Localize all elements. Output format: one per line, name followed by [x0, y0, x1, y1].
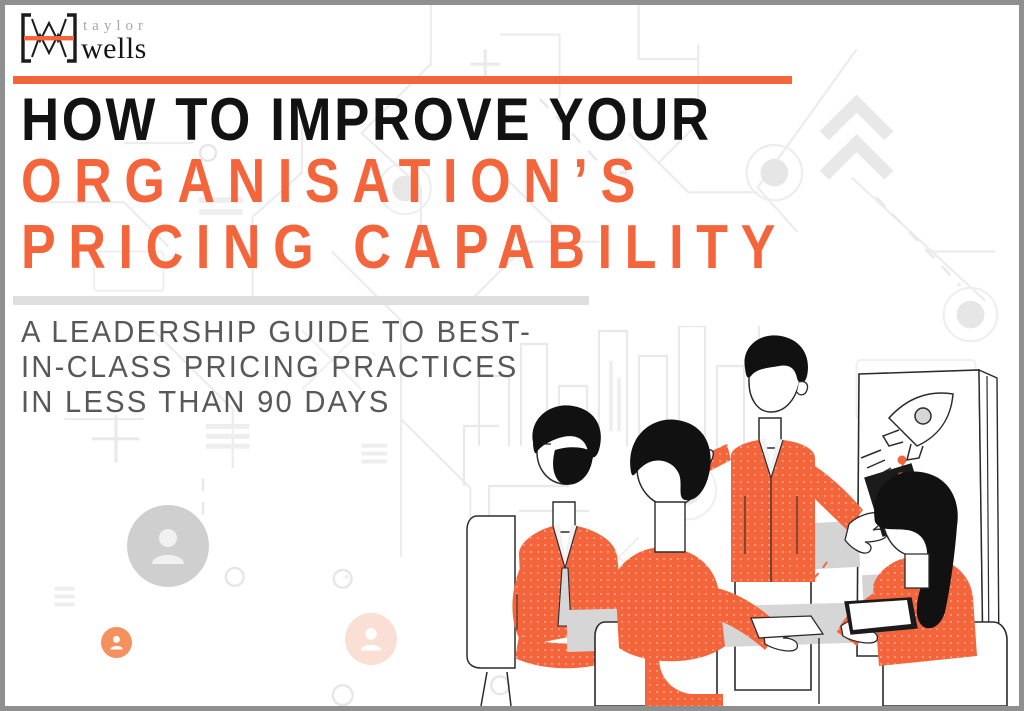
wm-monogram-icon	[19, 11, 79, 65]
taylor-wells-logo[interactable]: taylor wells	[19, 11, 148, 65]
headline-line-2: ORGANISATION’S	[21, 149, 788, 215]
user-icon	[357, 625, 385, 653]
subtitle-block: A LEADERSHIP GUIDE TO BEST- IN-CLASS PRI…	[21, 314, 565, 419]
headline-line-1: HOW TO IMPROVE YOUR	[21, 91, 824, 149]
subtitle-line-3: IN LESS THAN 90 DAYS	[21, 384, 532, 419]
orange-divider-rule	[13, 76, 792, 84]
avatar-large-grey	[127, 505, 209, 587]
headline-line-3: PRICING CAPABILITY	[21, 215, 788, 281]
headline-block: HOW TO IMPROVE YOUR ORGANISATION’S PRICI…	[21, 91, 934, 281]
logo-mark-wm	[19, 11, 79, 65]
avatar-small-orange	[101, 627, 132, 658]
grey-divider-rule	[13, 296, 589, 305]
user-icon	[146, 524, 190, 568]
skyline-bars	[609, 361, 621, 431]
logo-wordmark: taylor wells	[81, 18, 148, 65]
subtitle-line-2: IN-CLASS PRICING PRACTICES	[21, 349, 532, 384]
cover-page: taylor wells HOW TO IMPROVE YOUR ORGANIS…	[0, 0, 1024, 711]
avatar-medium-peach	[345, 613, 397, 665]
logo-word-wells: wells	[81, 34, 148, 64]
user-icon	[108, 634, 125, 651]
subtitle-line-1: A LEADERSHIP GUIDE TO BEST-	[21, 314, 532, 349]
